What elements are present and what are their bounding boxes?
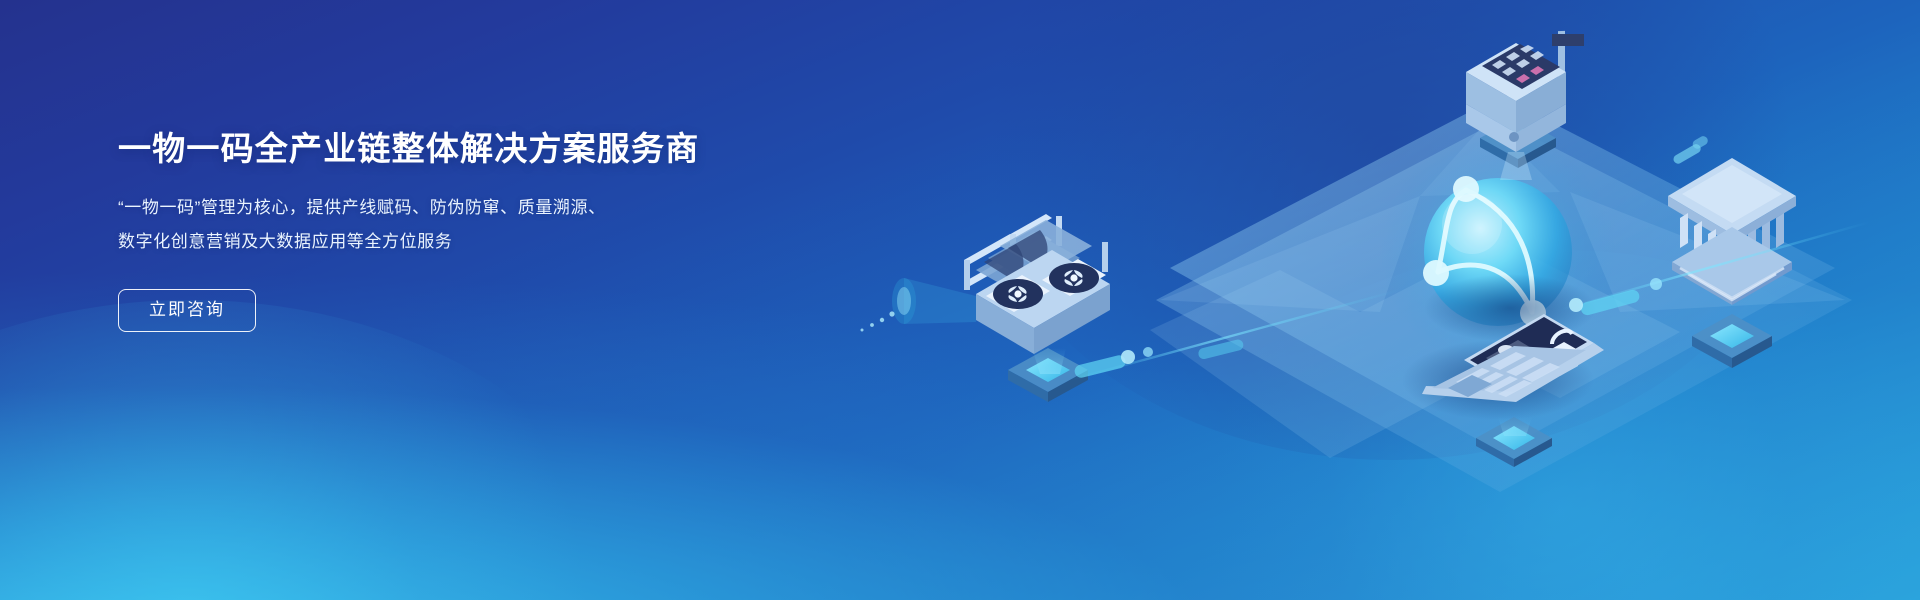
subtitle-line-2: 数字化创意营销及大数据应用等全方位服务 <box>118 225 818 259</box>
hero-banner: 一物一码全产业链整体解决方案服务商 “一物一码”管理为核心，提供产线赋码、防伪防… <box>0 0 1920 600</box>
hero-copy-block: 一物一码全产业链整体解决方案服务商 “一物一码”管理为核心，提供产线赋码、防伪防… <box>118 128 818 332</box>
isometric-illustration <box>860 0 1920 600</box>
airflow-cone <box>861 278 977 332</box>
ambient-glow-bottom-left <box>0 300 640 600</box>
subtitle-line-1: “一物一码”管理为核心，提供产线赋码、防伪防窜、质量溯源、 <box>118 191 818 225</box>
consult-now-button[interactable]: 立即咨询 <box>118 289 256 332</box>
page-title: 一物一码全产业链整体解决方案服务商 <box>118 128 818 169</box>
gpu-server-rack-icon <box>861 214 1111 402</box>
hero-subtitle: “一物一码”管理为核心，提供产线赋码、防伪防窜、质量溯源、 数字化创意营销及大数… <box>118 191 818 259</box>
connector-top-right <box>1672 135 1710 166</box>
